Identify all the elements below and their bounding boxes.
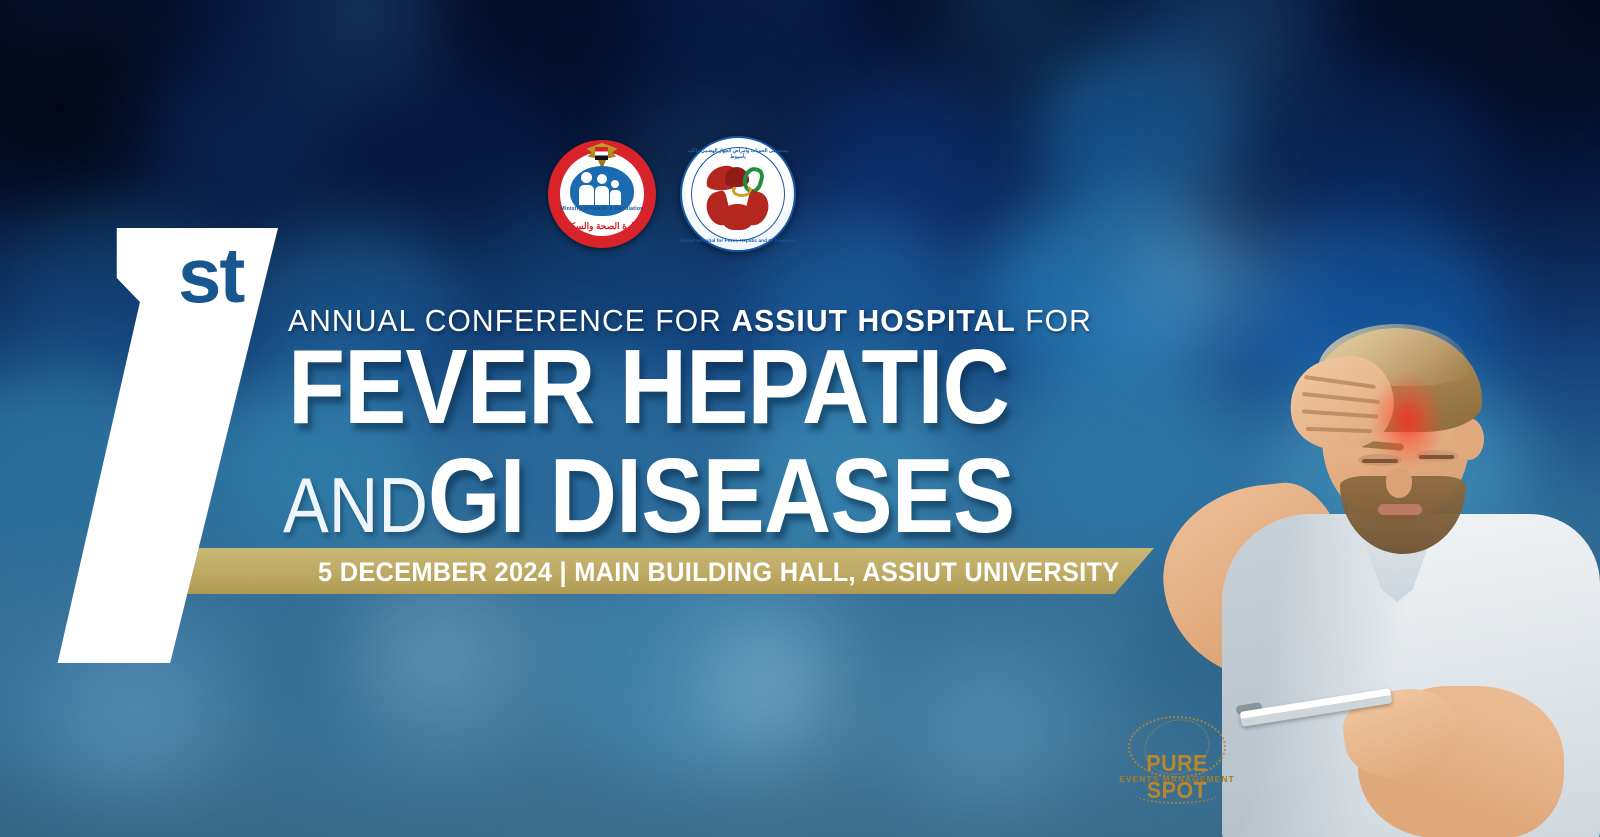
date-venue-text: 5 DECEMBER 2024 | MAIN BUILDING HALL, AS… [318, 557, 1119, 588]
palms-icon [722, 204, 753, 230]
egypt-flag-icon [595, 147, 608, 160]
ministry-of-health-logo: Ministry of Health & Population وزارة ال… [548, 140, 656, 248]
title-line-2: ANDGI DISEASES [283, 446, 1014, 548]
ordinal-first-mark: st [46, 228, 278, 663]
photo-lips [1378, 504, 1422, 515]
logo-row: Ministry of Health & Population وزارة ال… [548, 136, 796, 252]
hospital-name-en: Assiut Hospital for Fever, Hepatic and G… [680, 238, 796, 243]
assiut-hospital-logo: مستشفى الحميات وأمراض الجهاز الهضمي والك… [680, 136, 796, 252]
title-line-2-prefix: AND [283, 461, 428, 549]
conference-banner: Ministry of Health & Population وزارة ال… [0, 0, 1600, 837]
family-icon [578, 172, 626, 206]
title-line-2-main: GI DISEASES [428, 437, 1014, 555]
globe-arc-icon [1134, 782, 1220, 804]
photo-nose [1386, 468, 1412, 498]
pure-spot-logo: PURE SPOT EVENTS MANAGEMENT [1116, 714, 1238, 806]
ministry-name-en: Ministry of Health & Population [548, 206, 656, 212]
fever-red-glow-icon [1372, 372, 1444, 468]
title-line-1: FEVER HEPATIC [288, 337, 1009, 439]
ordinal-suffix: st [178, 236, 243, 314]
ministry-name-ar: وزارة الصحة والسكان [548, 221, 656, 232]
hospital-name-ar: مستشفى الحميات وأمراض الجهاز الهضمي والك… [680, 148, 796, 160]
